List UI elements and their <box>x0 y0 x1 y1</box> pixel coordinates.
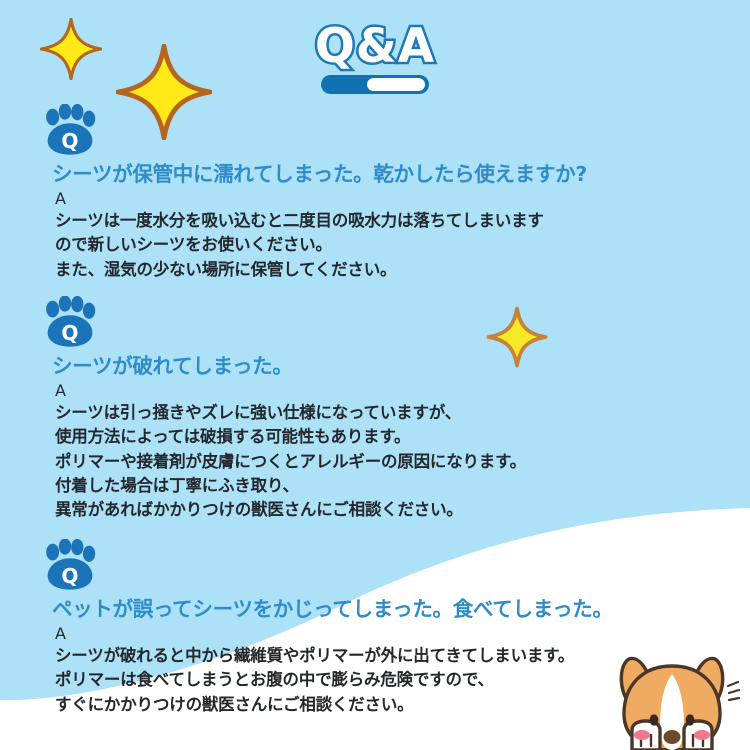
title-progress-bar <box>321 75 429 94</box>
answer-line: シーツが破れると中から繊維質やポリマーが外に出てきてしまいます。 <box>55 644 613 668</box>
paw-badge-3: Q <box>42 539 98 591</box>
corgi-mascot-icon <box>598 642 746 750</box>
paw-badge-1: Q <box>42 104 98 156</box>
question-text-1: シーツが保管中に濡れてしまった。乾かしたら使えますか? <box>52 157 587 187</box>
paw-badge-letter-2: Q <box>61 321 78 345</box>
paw-badge-letter-1: Q <box>61 129 78 153</box>
answer-line: ポリマーは食べてしまうとお腹の中で膨らみ危険ですので、 <box>55 668 613 692</box>
title-progress-knob <box>367 78 425 91</box>
title-progress-bar-wrapper <box>0 75 750 94</box>
qa-infographic-page: Q&A Q シーツが保管中に濡れてしまった。乾かしたら使えますか? A シーツは… <box>0 0 750 750</box>
answer-label-2: A <box>55 381 526 401</box>
page-title: Q&A <box>315 22 435 71</box>
answer-line: 異常があればかかりつけの獣医さんにご相談ください。 <box>55 498 526 522</box>
answer-line: ので新しいシーツをお使いください。 <box>55 233 587 257</box>
answer-label-1: A <box>55 189 587 209</box>
paw-badge-letter-3: Q <box>61 564 78 588</box>
answer-line: 付着した場合は丁寧にふき取り、 <box>55 474 526 498</box>
qa-item-3: Q ペットが誤ってシーツをかじってしまった。食べてしまった。 A シーツが破れる… <box>42 539 613 717</box>
answer-line: 使用方法によっては破損する可能性もあります。 <box>55 425 526 449</box>
paw-badge-2: Q <box>42 296 98 348</box>
qa-item-1: Q シーツが保管中に濡れてしまった。乾かしたら使えますか? A シーツは一度水分… <box>42 104 587 282</box>
qa-item-2: Q シーツが破れてしまった。 A シーツは引っ掻きやズレに強い仕様になっています… <box>42 296 526 522</box>
answer-body-2: シーツは引っ掻きやズレに強い仕様になっていますが、 使用方法によっては破損する可… <box>55 401 526 522</box>
answer-body-1: シーツは一度水分を吸い込むと二度目の吸水力は落ちてしまいます ので新しいシーツを… <box>55 209 587 282</box>
answer-line: すぐにかかりつけの獣医さんにご相談ください。 <box>55 693 613 717</box>
answer-line: ポリマーや接着剤が皮膚につくとアレルギーの原因になります。 <box>55 450 526 474</box>
question-text-3: ペットが誤ってシーツをかじってしまった。食べてしまった。 <box>52 592 613 622</box>
answer-line: また、湿気の少ない場所に保管してください。 <box>55 258 587 282</box>
page-title-block: Q&A <box>0 22 750 94</box>
answer-body-3: シーツが破れると中から繊維質やポリマーが外に出てきてしまいます。 ポリマーは食べ… <box>55 644 613 717</box>
question-text-2: シーツが破れてしまった。 <box>52 349 526 379</box>
answer-label-3: A <box>55 624 613 644</box>
answer-line: シーツは引っ掻きやズレに強い仕様になっていますが、 <box>55 401 526 425</box>
answer-line: シーツは一度水分を吸い込むと二度目の吸水力は落ちてしまいます <box>55 209 587 233</box>
